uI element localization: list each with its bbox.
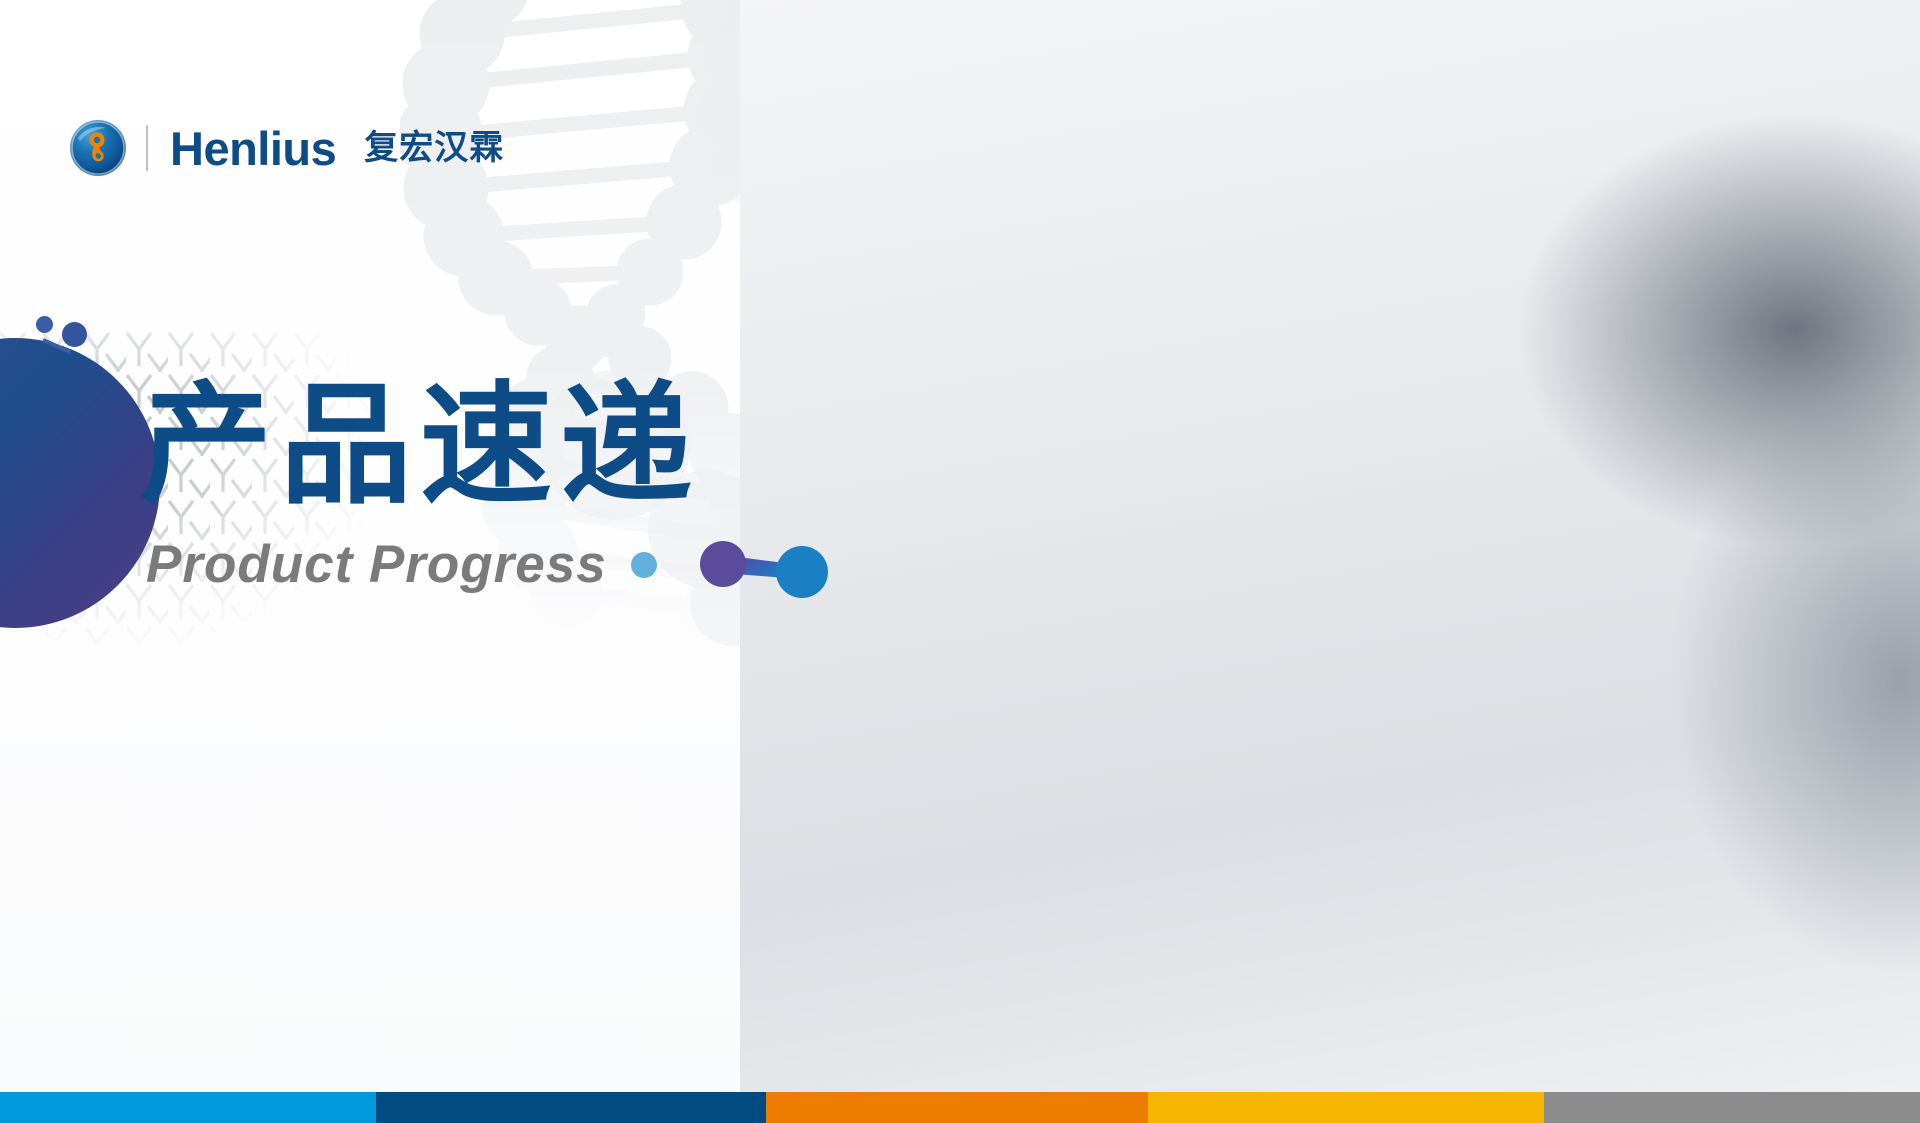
segment-orange <box>766 1092 1148 1123</box>
segment-amber <box>1148 1092 1544 1123</box>
henlius-circular-emblem <box>70 120 126 176</box>
laboratory-centrifuge-photo <box>740 0 1920 1092</box>
logo-wordmark: Henlius <box>170 125 336 172</box>
segment-light-blue <box>0 1092 376 1123</box>
presentation-title-slide: Henlius 复宏汉霖 产品速递 Product Progress <box>0 0 1920 1123</box>
segment-gray <box>1544 1092 1920 1123</box>
segment-dark-blue <box>376 1092 766 1123</box>
bottom-color-bar <box>0 1092 1920 1123</box>
title-block: 产品速递 Product Progress <box>140 380 700 595</box>
molecule-dot-small-left <box>36 316 53 333</box>
page-title-chinese: 产品速递 <box>140 380 700 512</box>
logo-divider <box>146 125 148 171</box>
logo-chinese-name: 复宏汉霖 <box>364 131 504 165</box>
page-title-english: Product Progress <box>146 534 700 595</box>
henlius-logo[interactable]: Henlius 复宏汉霖 <box>70 120 504 176</box>
molecule-dumbbell-purple-blue <box>700 533 835 598</box>
molecule-dot-large-left <box>62 322 87 347</box>
